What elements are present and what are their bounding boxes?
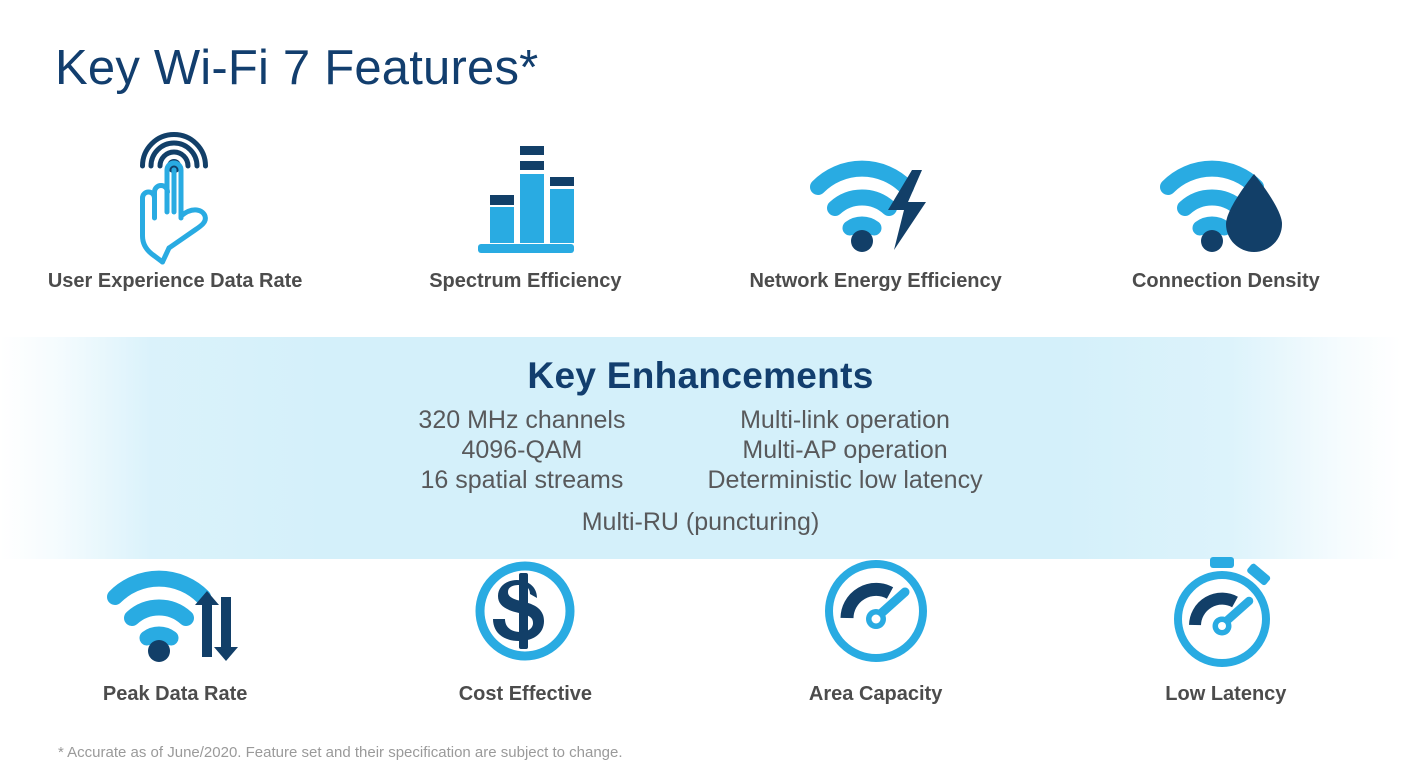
feature-label: Low Latency [1165, 683, 1286, 706]
enhancement-item: Multi-AP operation [742, 435, 947, 465]
feature-cost-effective[interactable]: Cost Effective [350, 555, 700, 706]
wifi-lightning-icon [808, 140, 944, 258]
feature-connection-density[interactable]: Connection Density [1051, 140, 1401, 293]
feature-low-latency[interactable]: Low Latency [1051, 555, 1401, 706]
wifi-arrows-icon [107, 555, 243, 667]
feature-label: Network Energy Efficiency [749, 270, 1001, 293]
feature-label: Cost Effective [459, 683, 592, 706]
feature-row-top: User Experience Data Rate [0, 140, 1401, 293]
feature-label: User Experience Data Rate [48, 270, 303, 293]
page-title: Key Wi-Fi 7 Features* [55, 42, 538, 96]
enhancement-item: 16 spatial streams [421, 465, 624, 495]
key-enhancements-heading: Key Enhancements [0, 355, 1401, 397]
enhancement-item-multi-ru: Multi-RU (puncturing) [0, 508, 1401, 537]
wifi-droplet-icon [1158, 140, 1294, 258]
feature-label: Peak Data Rate [103, 683, 248, 706]
feature-row-bottom: Peak Data Rate Cost Effective [0, 555, 1401, 706]
feature-area-capacity[interactable]: Area Capacity [701, 555, 1051, 706]
dollar-circle-icon [471, 555, 579, 667]
feature-label: Connection Density [1132, 270, 1320, 293]
stopwatch-icon [1167, 555, 1285, 667]
key-enhancements-columns: 320 MHz channels 4096-QAM 16 spatial str… [0, 405, 1401, 495]
enhancement-item: 4096-QAM [462, 435, 583, 465]
feature-user-experience-data-rate[interactable]: User Experience Data Rate [0, 140, 350, 293]
gauge-icon [821, 555, 931, 667]
enhancement-column-right: Multi-link operation Multi-AP operation … [707, 405, 982, 495]
bar-chart-icon [470, 140, 580, 258]
feature-network-energy-efficiency[interactable]: Network Energy Efficiency [701, 140, 1051, 293]
feature-peak-data-rate[interactable]: Peak Data Rate [0, 555, 350, 706]
feature-label: Area Capacity [809, 683, 942, 706]
feature-label: Spectrum Efficiency [429, 270, 621, 293]
feature-spectrum-efficiency[interactable]: Spectrum Efficiency [350, 140, 700, 293]
enhancement-column-left: 320 MHz channels 4096-QAM 16 spatial str… [418, 405, 625, 495]
enhancement-item: Deterministic low latency [707, 465, 982, 495]
enhancement-item: 320 MHz channels [418, 405, 625, 435]
enhancement-item: Multi-link operation [740, 405, 950, 435]
touch-signal-icon [119, 140, 231, 258]
slide-canvas: Key Wi-Fi 7 Features* [0, 0, 1401, 770]
key-enhancements-band: Key Enhancements 320 MHz channels 4096-Q… [0, 337, 1401, 559]
footnote: * Accurate as of June/2020. Feature set … [58, 744, 623, 761]
